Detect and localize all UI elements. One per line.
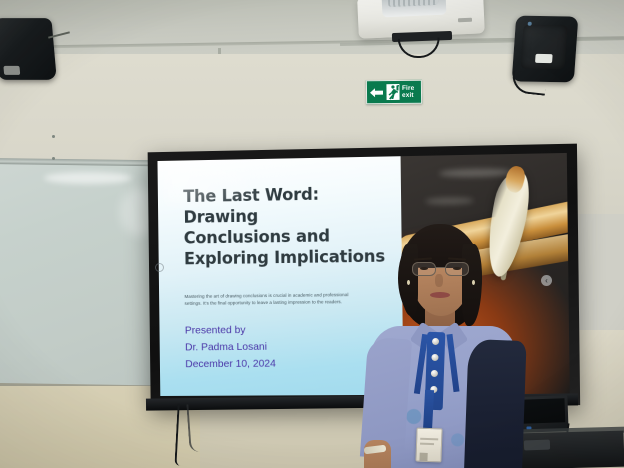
projector-port-icon (458, 18, 472, 22)
whiteboard-glare (44, 172, 132, 184)
id-badge-line (420, 443, 434, 445)
presenter-lips (430, 292, 450, 298)
speaker-left (0, 18, 57, 80)
presenter-hair-right (462, 244, 482, 326)
fire-exit-sign: Fire exit (366, 80, 422, 105)
presenter (362, 222, 532, 468)
slide-body-text: Mastering the art of drawing conclusions… (184, 291, 358, 307)
presenter-dupatta (463, 339, 526, 468)
slide-image-highlight (425, 197, 474, 205)
earring-icon (407, 280, 410, 285)
fire-exit-line2: exit (402, 92, 419, 99)
running-person-icon (386, 84, 400, 100)
presenter-arm (364, 440, 391, 468)
wall-screw-icon (52, 157, 55, 160)
presenter-nose (435, 274, 443, 287)
id-badge (415, 428, 442, 463)
id-badge-photo (419, 453, 427, 461)
earring-icon (472, 280, 475, 285)
button-icon (432, 338, 439, 345)
fire-exit-label: Fire exit (402, 85, 419, 99)
photo-scene: Fire exit The Last Word: Drawing Conclus… (0, 0, 624, 468)
slide-title-line-2: Conclusions and (184, 225, 392, 249)
slide-image-highlight (439, 168, 512, 177)
speaker-brand-badge (535, 54, 553, 63)
slide-title-line-3: Exploring Implications (184, 246, 392, 270)
wall-screw-icon (52, 135, 55, 138)
display-side-button[interactable] (155, 263, 164, 272)
display-side-control-icon[interactable]: ‹ (541, 275, 552, 286)
id-badge-line (420, 438, 438, 441)
button-icon (431, 354, 438, 361)
arrow-left-icon (369, 86, 384, 99)
slide-title: The Last Word: Drawing Conclusions and E… (183, 182, 392, 269)
eyeglass-bridge (436, 267, 445, 268)
slide-title-line-1: The Last Word: Drawing (183, 182, 391, 227)
button-icon (431, 370, 438, 377)
